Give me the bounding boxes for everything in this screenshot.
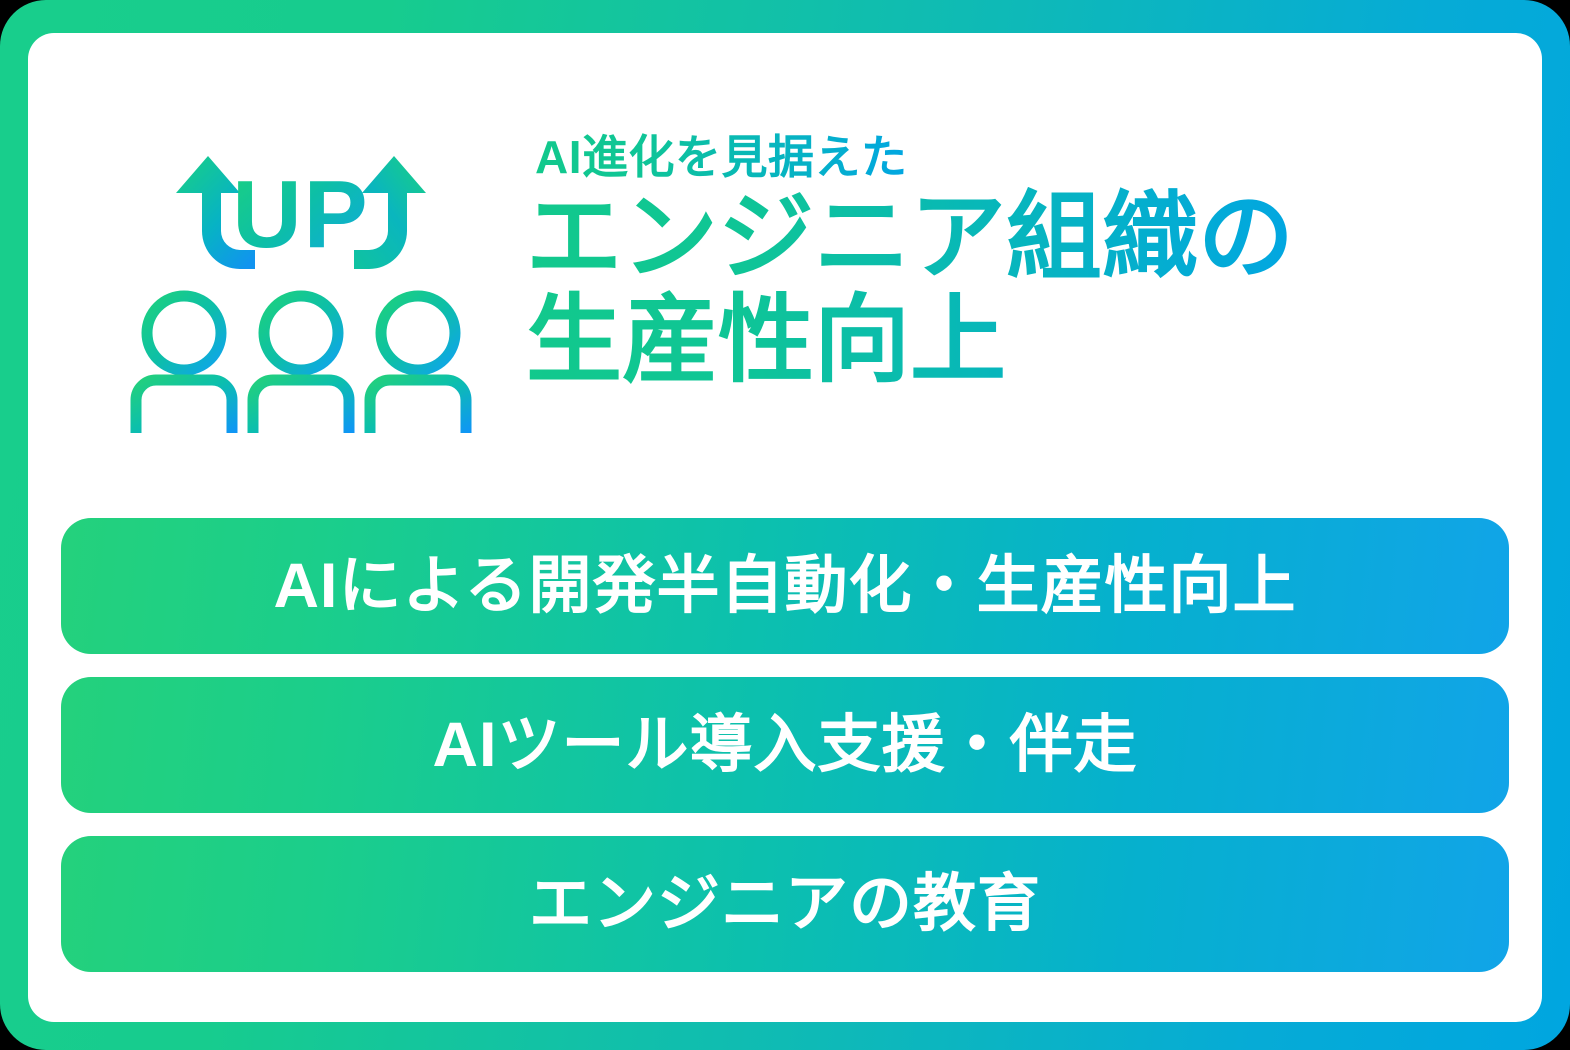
header-section: UP — [28, 33, 1542, 505]
service-pill-label: エンジニアの教育 — [529, 873, 1041, 936]
page-title: エンジニア組織の 生産性向上 — [526, 187, 1294, 392]
subtitle: AI進化を見据えた — [535, 133, 908, 181]
title-block: AI進化を見据えた エンジニア組織の 生産性向上 — [526, 133, 1506, 393]
person-figure — [136, 296, 232, 433]
up-label: UP — [232, 161, 369, 268]
service-pill-label: AIツール導入支援・伴走 — [433, 714, 1138, 777]
service-pill-1[interactable]: AIによる開発半自動化・生産性向上 — [61, 518, 1509, 654]
gradient-frame: UP — [0, 0, 1570, 1050]
service-pill-label: AIによる開発半自動化・生産性向上 — [273, 555, 1296, 618]
service-pill-3[interactable]: エンジニアの教育 — [61, 836, 1509, 972]
content-card: UP — [28, 33, 1542, 1022]
service-pill-2[interactable]: AIツール導入支援・伴走 — [61, 677, 1509, 813]
person-figure — [253, 296, 349, 433]
service-pill-list: AIによる開発半自動化・生産性向上 AIツール導入支援・伴走 エンジニアの教育 — [61, 518, 1509, 972]
people-up-icon: UP — [116, 138, 486, 438]
person-figure — [370, 296, 466, 433]
